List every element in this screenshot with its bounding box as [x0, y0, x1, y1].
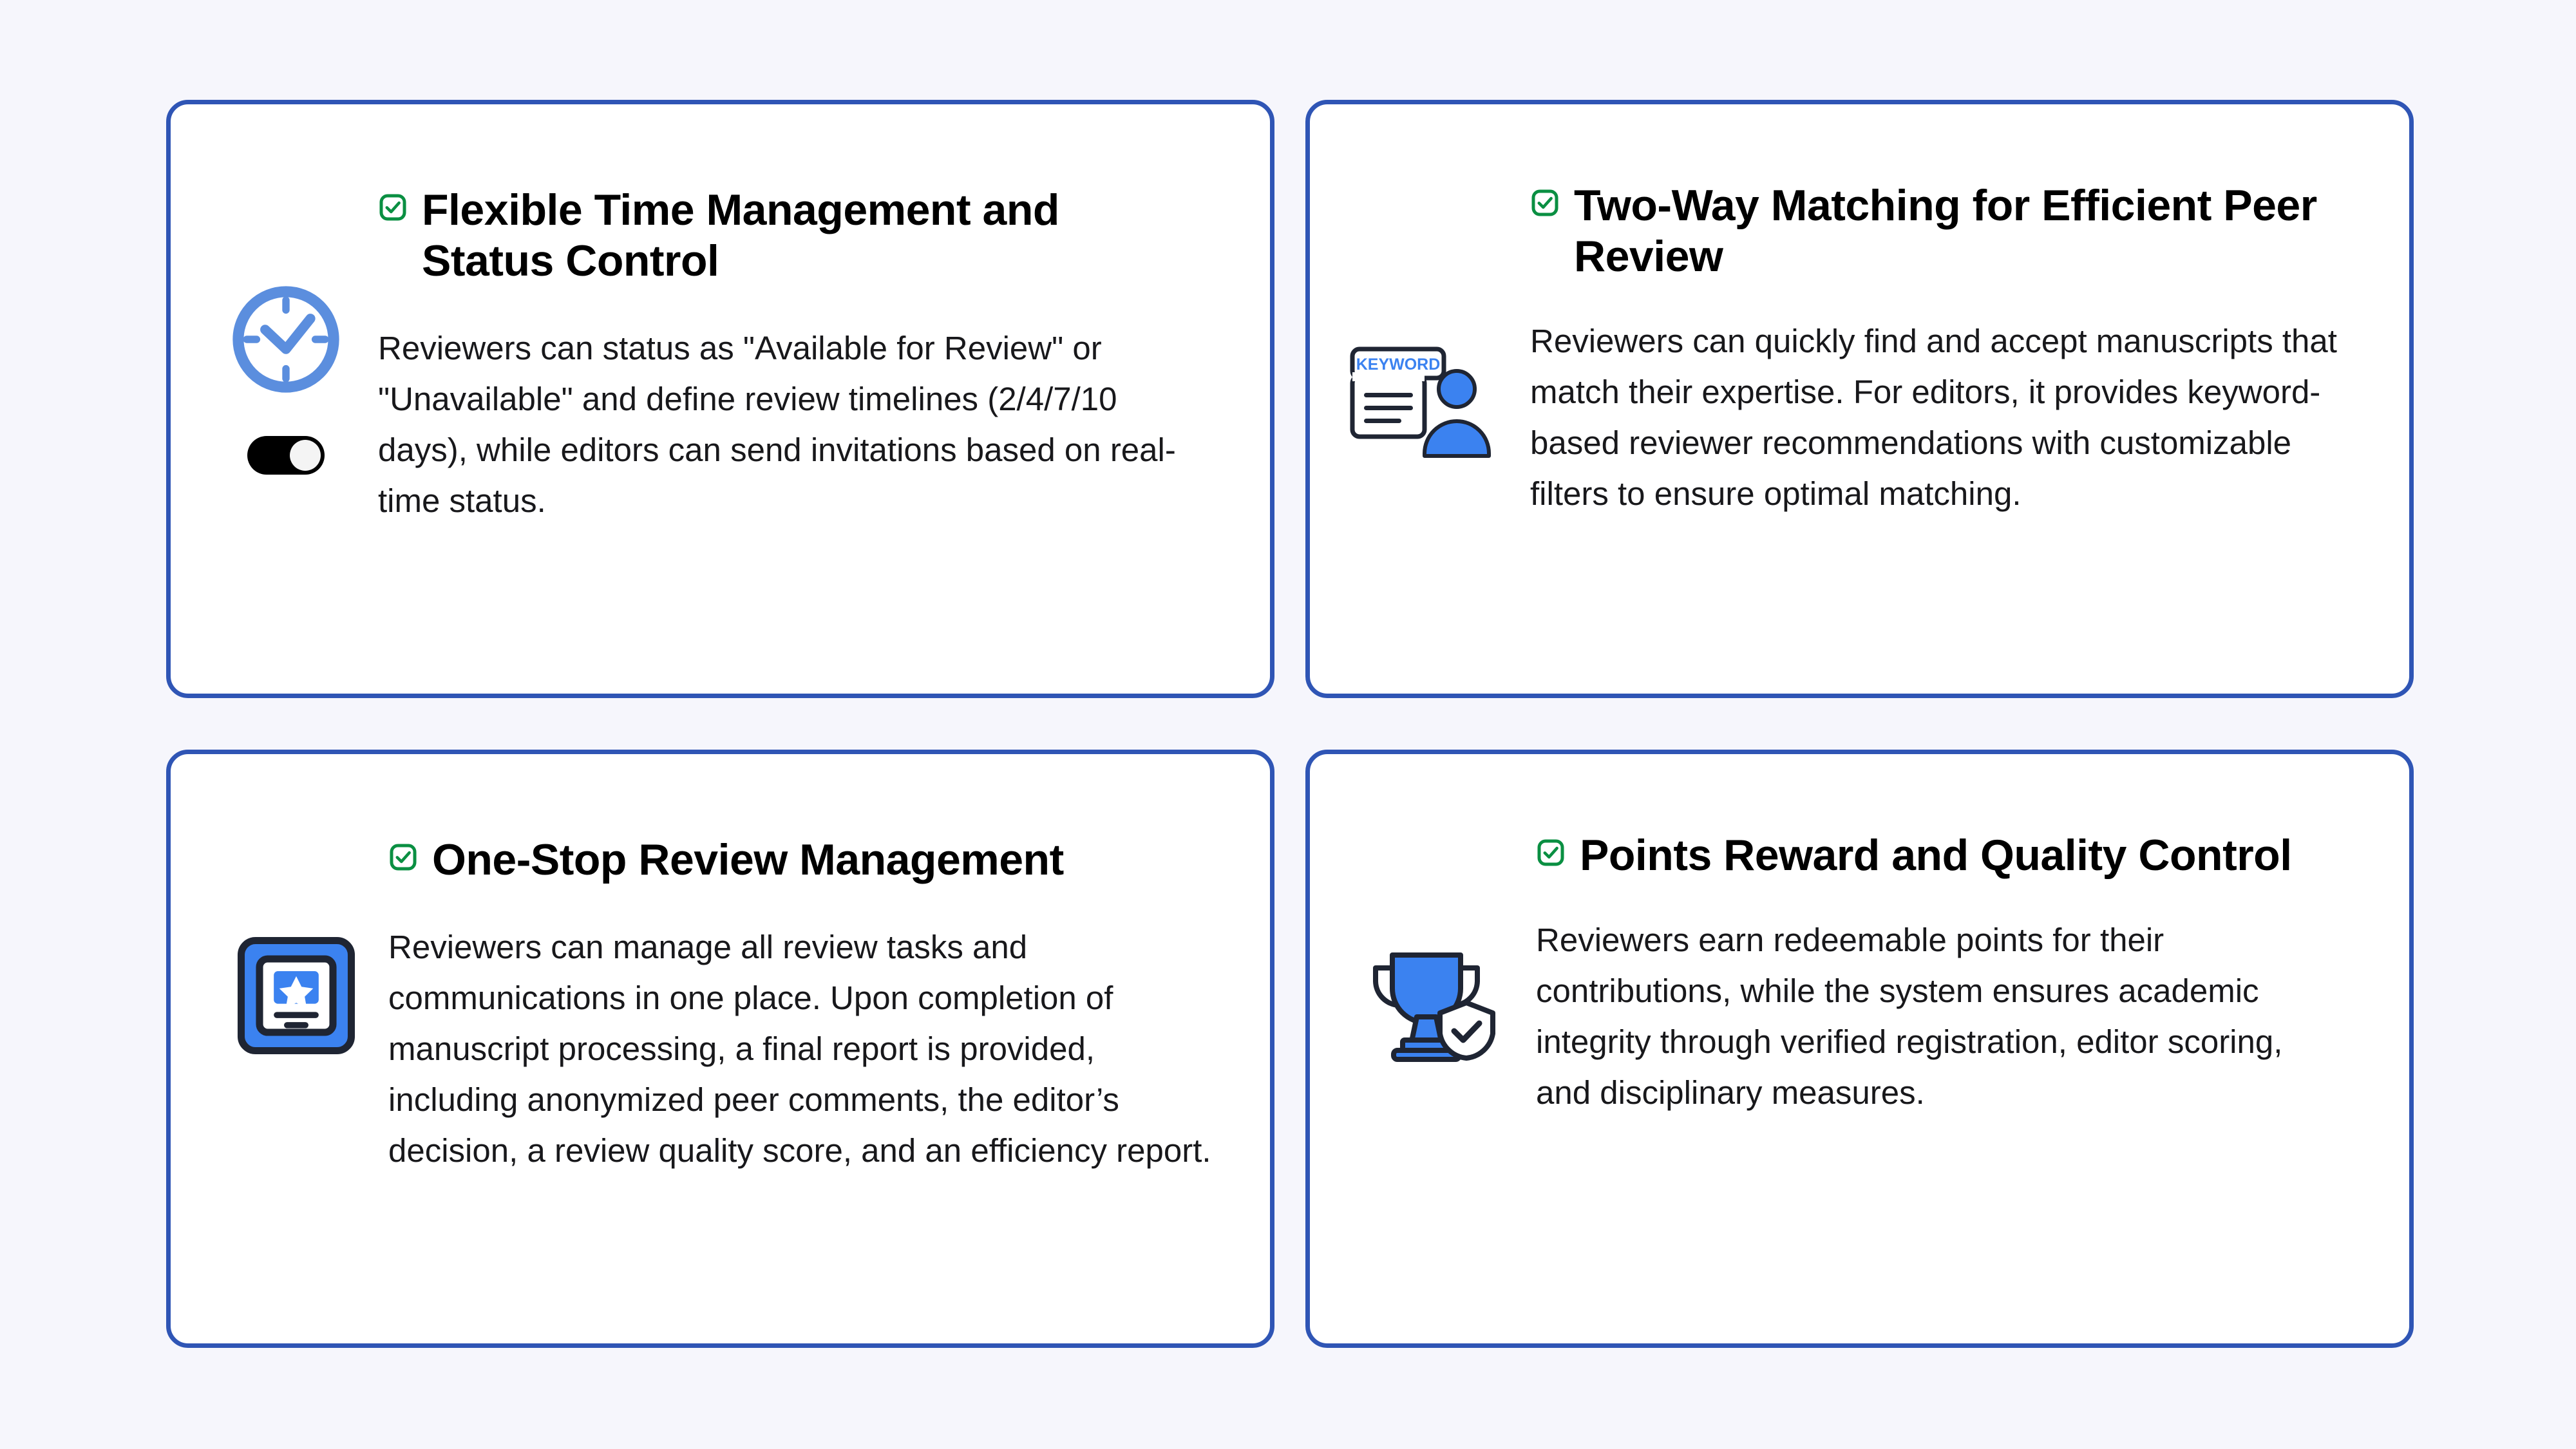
card-title-text: Two-Way Matching for Efficient Peer Revi… [1574, 180, 2364, 282]
feature-card-points-reward-quality-control[interactable]: Points Reward and Quality Control Review… [1305, 750, 2414, 1348]
card-title-text: Points Reward and Quality Control [1580, 830, 2292, 881]
feature-card-one-stop-review-management[interactable]: One-Stop Review Management Reviewers can… [166, 750, 1274, 1348]
card-body-text: Reviewers earn redeemable points for the… [1536, 914, 2338, 1118]
check-square-icon [388, 842, 418, 872]
card-text-column: Two-Way Matching for Efficient Peer Revi… [1530, 180, 2364, 519]
trophy-shield-check-icon [1361, 947, 1500, 1066]
card-title-row: Flexible Time Management and Status Cont… [378, 185, 1180, 287]
check-square-icon [1536, 838, 1566, 867]
feature-card-flexible-time-management[interactable]: Flexible Time Management and Status Cont… [166, 100, 1274, 698]
card-body-text: Reviewers can quickly find and accept ma… [1530, 316, 2364, 519]
card-title-row: Points Reward and Quality Control [1536, 830, 2338, 881]
framed-star-report-icon [235, 934, 357, 1057]
clock-icon [225, 278, 347, 401]
check-square-icon [1530, 188, 1560, 218]
card-body-text: Reviewers can manage all review tasks an… [388, 922, 1218, 1176]
availability-toggle[interactable] [247, 435, 325, 475]
card-title-text: Flexible Time Management and Status Cont… [422, 185, 1180, 287]
check-square-icon [378, 193, 408, 222]
keyword-document-person-icon: KEYWORD [1346, 343, 1494, 465]
card-body-text: Reviewers can status as "Available for R… [378, 323, 1180, 526]
card-title-row: One-Stop Review Management [388, 835, 1218, 885]
card-icon-column [1361, 947, 1500, 1066]
feature-card-two-way-matching[interactable]: KEYWORD [1305, 100, 2414, 698]
card-text-column: Points Reward and Quality Control Review… [1536, 830, 2338, 1118]
card-icon-column [235, 934, 357, 1057]
card-text-column: Flexible Time Management and Status Cont… [378, 185, 1180, 526]
card-title-text: One-Stop Review Management [432, 835, 1064, 885]
keyword-icon-label: KEYWORD [1356, 355, 1441, 374]
feature-card-grid: Flexible Time Management and Status Cont… [166, 100, 2414, 1348]
card-text-column: One-Stop Review Management Reviewers can… [388, 835, 1218, 1176]
card-icon-column: KEYWORD [1346, 343, 1494, 465]
card-icon-column [225, 278, 347, 475]
card-title-row: Two-Way Matching for Efficient Peer Revi… [1530, 180, 2364, 282]
